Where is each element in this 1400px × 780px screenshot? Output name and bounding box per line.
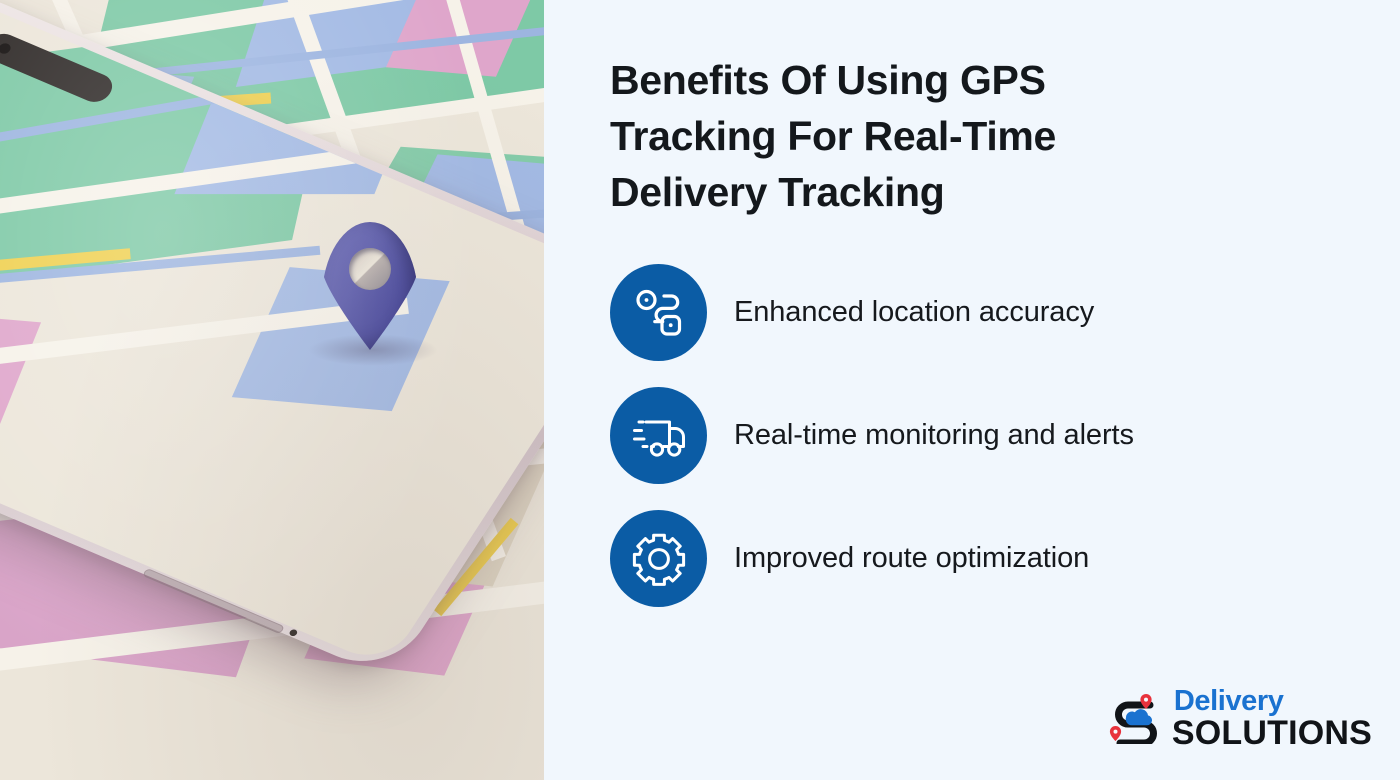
list-item-label: Real-time monitoring and alerts <box>734 419 1134 452</box>
page-title: Benefits Of Using GPS Tracking For Real-… <box>610 52 1210 220</box>
gear-icon <box>632 532 686 586</box>
map-pin-hole <box>349 248 391 290</box>
logo-wordmark: Delivery SOLUTIONS <box>1174 687 1372 750</box>
hero-image-phone-on-map <box>0 0 544 780</box>
screen-district-area <box>0 305 41 472</box>
list-item: Improved route optimization <box>610 510 1360 607</box>
delivery-truck-icon <box>631 410 687 462</box>
list-item: Enhanced location accuracy <box>610 264 1360 361</box>
benefit-icon-circle <box>610 264 707 361</box>
benefit-icon-circle <box>610 510 707 607</box>
map-pin-3d <box>322 222 418 357</box>
benefit-icon-circle <box>610 387 707 484</box>
infographic-page: Benefits Of Using GPS Tracking For Real-… <box>0 0 1400 780</box>
benefits-list: Enhanced location accuracy <box>610 264 1360 607</box>
route-icon <box>633 287 685 339</box>
logo-text-solutions: SOLUTIONS <box>1172 714 1372 752</box>
logo-text-delivery: Delivery <box>1174 685 1284 717</box>
list-item: Real-time monitoring and alerts <box>610 387 1360 484</box>
content-panel: Benefits Of Using GPS Tracking For Real-… <box>544 0 1400 780</box>
road-route-cloud-pin-icon <box>1106 694 1168 744</box>
list-item-label: Enhanced location accuracy <box>734 296 1094 329</box>
list-item-label: Improved route optimization <box>734 542 1089 575</box>
brand-logo[interactable]: Delivery SOLUTIONS <box>1106 687 1372 750</box>
